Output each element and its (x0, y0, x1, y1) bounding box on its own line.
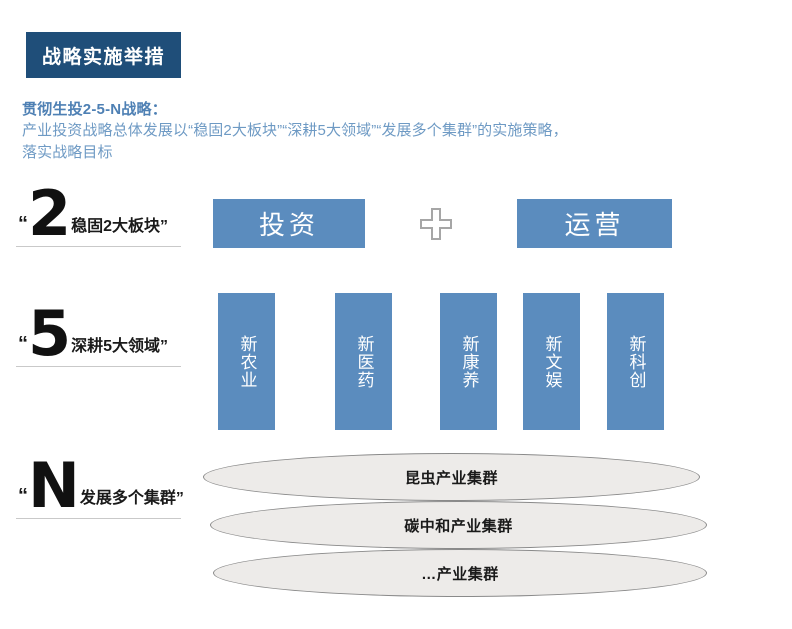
cluster-ellipse-2[interactable]: …产业集群 (213, 549, 707, 597)
cluster-label-1: 碳中和产业集群 (404, 515, 513, 536)
strategy-label-n: “ N 发展多个集群” (12, 458, 197, 519)
sector-label-0: 新农业 (234, 335, 260, 389)
big-digit-2: 2 (28, 189, 69, 240)
sector-label-4: 新科创 (623, 335, 649, 389)
intro-line-2: 落实战略目标 (22, 142, 772, 164)
strategy-phrase-2: 稳固2大板块” (71, 219, 168, 235)
block-operate[interactable]: 运营 (517, 199, 672, 248)
sector-column-3[interactable]: 新文娱 (523, 293, 580, 430)
intro-text-block: 贯彻生投2-5-N战略： 产业投资战略总体发展以“稳固2大板块”“深耕5大领域”… (22, 99, 772, 164)
plus-icon (419, 207, 453, 241)
cluster-label-0: 昆虫产业集群 (405, 467, 498, 488)
sector-column-1[interactable]: 新医药 (335, 293, 392, 430)
sector-column-0[interactable]: 新农业 (218, 293, 275, 430)
sector-column-2[interactable]: 新康养 (440, 293, 497, 430)
sector-label-1: 新医药 (351, 335, 377, 389)
block-invest[interactable]: 投资 (213, 199, 365, 248)
quote-open-5: “ (18, 334, 28, 354)
block-operate-label: 运营 (564, 205, 624, 242)
strategy-label-5: “ 5 深耕5大领域” (12, 306, 197, 367)
cluster-ellipse-1[interactable]: 碳中和产业集群 (210, 501, 707, 549)
strategy-phrase-n: 发展多个集群” (80, 491, 184, 507)
sector-label-2: 新康养 (456, 335, 482, 389)
strategy-label-2: “ 2 稳固2大板块” (12, 186, 197, 247)
intro-heading: 贯彻生投2-5-N战略： (22, 99, 772, 120)
quote-open-n: “ (18, 486, 28, 506)
sector-column-4[interactable]: 新科创 (607, 293, 664, 430)
page-title-badge: 战略实施举措 (26, 32, 181, 78)
cluster-ellipse-0[interactable]: 昆虫产业集群 (203, 453, 700, 501)
big-digit-n: N (28, 461, 78, 512)
sector-label-3: 新文娱 (539, 335, 565, 389)
strategy-phrase-5: 深耕5大领域” (71, 339, 168, 355)
page-title: 战略实施举措 (42, 42, 165, 69)
big-digit-5: 5 (28, 309, 69, 360)
intro-line-1: 产业投资战略总体发展以“稳固2大板块”“深耕5大领域”“发展多个集群”的实施策略… (22, 120, 772, 142)
quote-open-2: “ (18, 214, 28, 234)
cluster-label-2: …产业集群 (421, 563, 499, 584)
block-invest-label: 投资 (259, 205, 319, 242)
